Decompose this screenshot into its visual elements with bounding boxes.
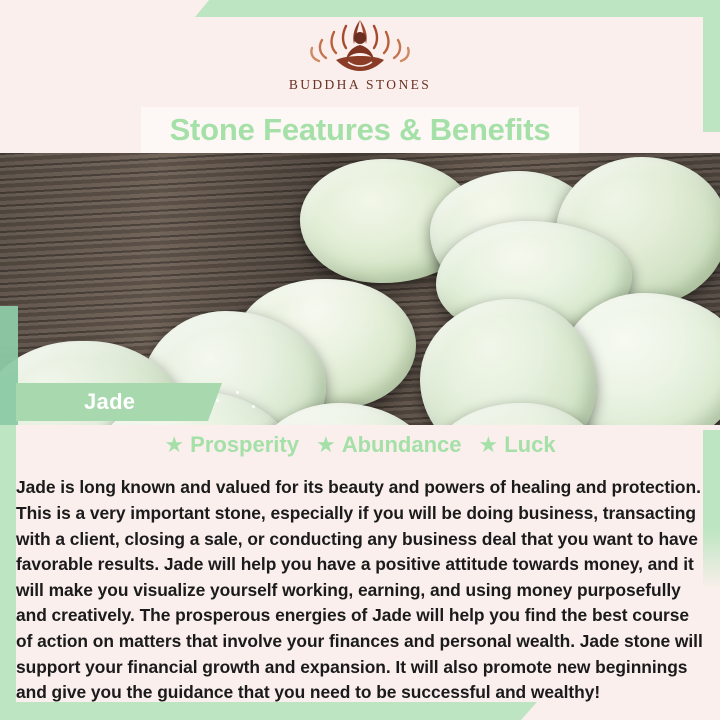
star-icon: ★ [479,434,499,456]
stone-description: Jade is long known and valued for its be… [16,475,704,705]
star-icon: ★ [316,434,336,456]
star-icon: ★ [164,434,184,456]
stone-name-band: Jade [16,383,222,421]
benefit-item-abundance: ★ Abundance [316,432,462,458]
lotus-meditation-figure-icon [302,14,418,76]
benefit-label: Luck [504,432,555,458]
stone-name: Jade [84,389,135,415]
brand-name: BUDDHA STONES [289,77,431,93]
benefit-item-luck: ★ Luck [479,432,556,458]
benefit-item-prosperity: ★ Prosperity [164,432,299,458]
sparkle [236,391,239,394]
brand-logo: BUDDHA STONES [0,14,720,106]
sparkle [216,399,219,402]
benefits-row: ★ Prosperity ★ Abundance ★ Luck [0,430,720,460]
photo-left-green-edge [0,306,18,425]
stone-info-poster: BUDDHA STONES Stone Features & Benefits … [0,0,720,720]
sparkle [252,405,255,408]
title-banner: Stone Features & Benefits [141,107,579,153]
benefit-label: Abundance [342,432,462,458]
page-title: Stone Features & Benefits [170,112,551,148]
benefit-label: Prosperity [190,432,299,458]
